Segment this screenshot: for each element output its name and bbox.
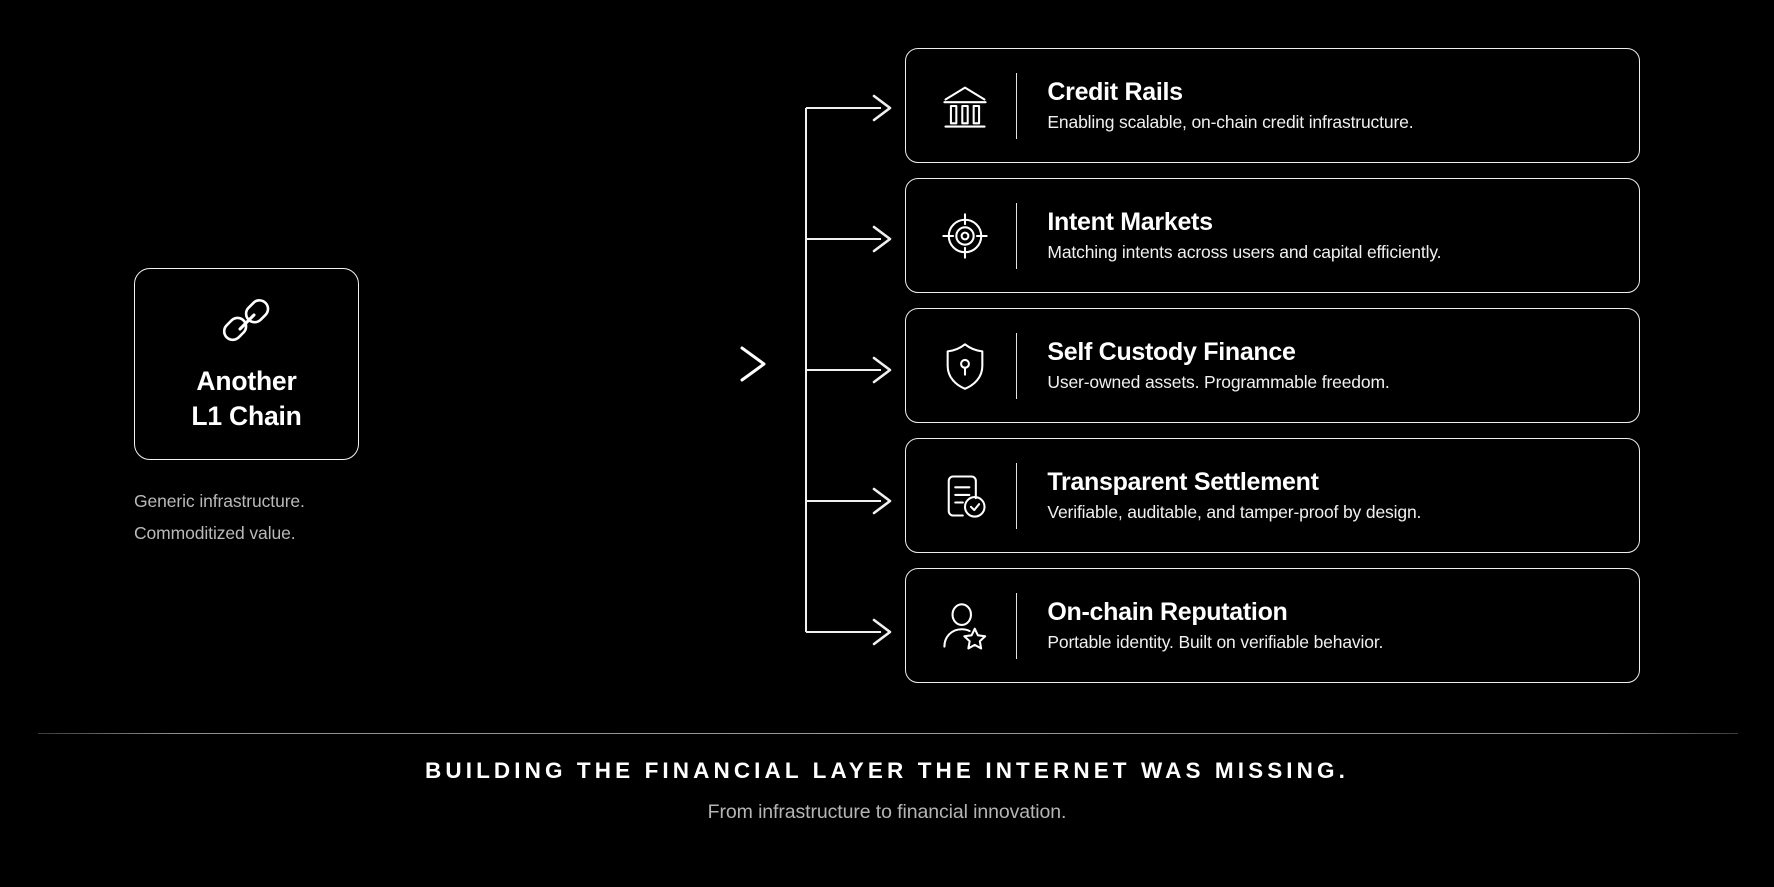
footer-divider (38, 733, 1738, 734)
person-star-icon (932, 593, 998, 659)
card-title: Intent Markets (1047, 208, 1441, 237)
shield-keyhole-icon (932, 333, 998, 399)
diagram-canvas: Another L1 Chain Generic infrastructure.… (0, 0, 1774, 887)
card-title: On-chain Reputation (1047, 598, 1383, 627)
card-divider (1016, 203, 1017, 269)
footer-subtitle: From infrastructure to financial innovat… (0, 801, 1774, 824)
card-description: Matching intents across users and capita… (1047, 242, 1441, 263)
card-description: Enabling scalable, on-chain credit infra… (1047, 112, 1413, 133)
card-description: Portable identity. Built on verifiable b… (1047, 632, 1383, 653)
branch-arrow (806, 358, 890, 382)
footer: BUILDING THE FINANCIAL LAYER THE INTERNE… (0, 758, 1774, 824)
footer-headline: BUILDING THE FINANCIAL LAYER THE INTERNE… (0, 758, 1774, 784)
branch-arrow (806, 96, 890, 120)
document-check-icon (932, 463, 998, 529)
source-node-caption: Generic infrastructure. Commoditized val… (134, 486, 359, 550)
card-self-custody-finance[interactable]: Self Custody Finance User-owned assets. … (905, 308, 1640, 423)
main-flow-arrow (359, 348, 764, 380)
source-node-group: Another L1 Chain Generic infrastructure.… (134, 268, 359, 550)
card-description: User-owned assets. Programmable freedom. (1047, 372, 1389, 393)
card-divider (1016, 593, 1017, 659)
card-divider (1016, 73, 1017, 139)
branch-arrow (806, 620, 890, 644)
target-crosshair-icon (932, 203, 998, 269)
card-credit-rails[interactable]: Credit Rails Enabling scalable, on-chain… (905, 48, 1640, 163)
card-divider (1016, 463, 1017, 529)
card-divider (1016, 333, 1017, 399)
card-onchain-reputation[interactable]: On-chain Reputation Portable identity. B… (905, 568, 1640, 683)
card-title: Transparent Settlement (1047, 468, 1421, 497)
source-node-card[interactable]: Another L1 Chain (134, 268, 359, 460)
card-title: Credit Rails (1047, 78, 1413, 107)
card-description: Verifiable, auditable, and tamper-proof … (1047, 502, 1421, 523)
capability-card-list: Credit Rails Enabling scalable, on-chain… (905, 48, 1640, 683)
branch-arrow (806, 489, 890, 513)
card-intent-markets[interactable]: Intent Markets Matching intents across u… (905, 178, 1640, 293)
branch-arrow (806, 227, 890, 251)
bank-icon (932, 73, 998, 139)
card-title: Self Custody Finance (1047, 338, 1389, 367)
chain-link-icon (219, 294, 275, 350)
card-transparent-settlement[interactable]: Transparent Settlement Verifiable, audit… (905, 438, 1640, 553)
source-node-title: Another L1 Chain (191, 364, 301, 434)
